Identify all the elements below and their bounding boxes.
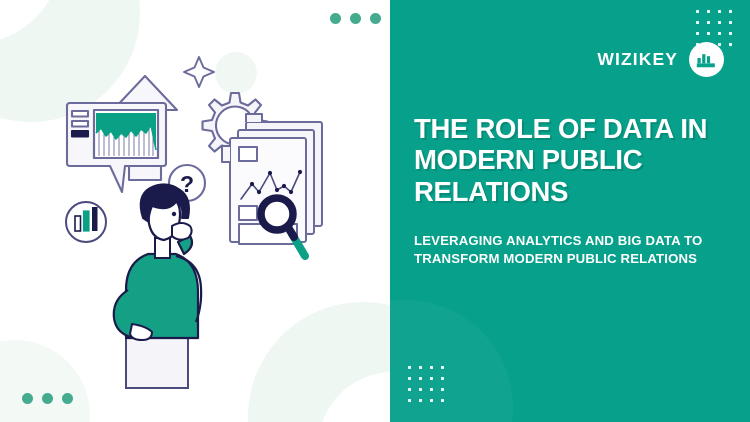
bar-chart-icon bbox=[689, 42, 724, 77]
illustration-panel: ? bbox=[0, 0, 390, 422]
page-subtitle: LEVERAGING ANALYTICS AND BIG DATA TO TRA… bbox=[414, 232, 714, 268]
page-title: THE ROLE OF DATA IN MODERN PUBLIC RELATI… bbox=[414, 113, 734, 207]
poster-canvas: ? bbox=[0, 0, 750, 422]
decor-teal-blob bbox=[390, 300, 513, 422]
person-thinking bbox=[114, 184, 201, 388]
decor-dot-grid-top-right bbox=[696, 10, 732, 46]
sparkle-icon bbox=[184, 57, 214, 87]
brand-wordmark: WIZIKEY bbox=[597, 51, 678, 69]
content-panel: WIZIKEY THE ROLE OF DATA IN MODERN PUBLI… bbox=[390, 0, 750, 422]
data-analytics-illustration: ? bbox=[0, 0, 390, 422]
brand-logo[interactable]: WIZIKEY bbox=[597, 42, 724, 77]
decor-dot-grid-bottom-left bbox=[408, 366, 444, 402]
bar-chart-badge bbox=[66, 202, 106, 242]
bar-chart-icon-glyph bbox=[696, 51, 717, 68]
